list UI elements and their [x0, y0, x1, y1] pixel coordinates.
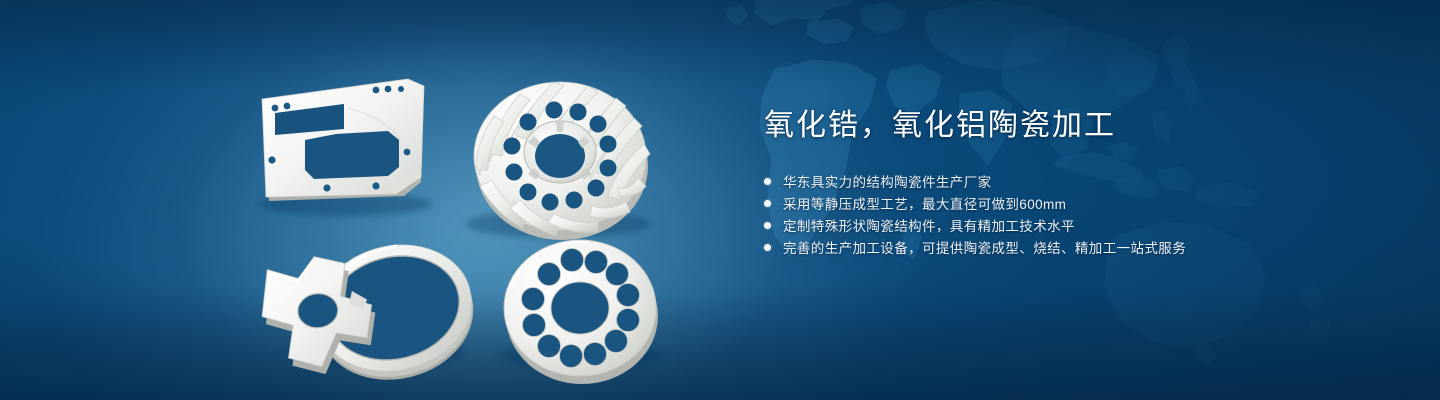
list-item: 完善的生产加工设备，可提供陶瓷成型、烧结、精加工一站式服务 — [764, 236, 1384, 258]
banner-copy: 氧化锆，氧化铝陶瓷加工 华东具实力的结构陶瓷件生产厂家 采用等静压成型工艺，最大… — [764, 108, 1384, 258]
feature-text: 完善的生产加工设备，可提供陶瓷成型、烧结、精加工一站式服务 — [783, 237, 1186, 257]
bullet-dot-icon — [764, 200, 771, 207]
ceramic-perforated-disc-graphic — [504, 240, 658, 384]
bullet-dot-icon — [764, 178, 771, 185]
ceramic-vaned-impeller-graphic — [474, 82, 650, 240]
feature-text: 采用等静压成型工艺，最大直径可做到600mm — [783, 193, 1066, 213]
bullet-dot-icon — [764, 244, 771, 251]
hero-banner: 氧化锆，氧化铝陶瓷加工 华东具实力的结构陶瓷件生产厂家 采用等静压成型工艺，最大… — [0, 0, 1440, 400]
feature-text: 定制特殊形状陶瓷结构件，具有精加工技术水平 — [783, 215, 1075, 235]
list-item: 华东具实力的结构陶瓷件生产厂家 — [764, 170, 1384, 192]
ceramic-mounting-plate-graphic — [262, 79, 424, 201]
list-item: 定制特殊形状陶瓷结构件，具有精加工技术水平 — [764, 214, 1384, 236]
page-title: 氧化锆，氧化铝陶瓷加工 — [764, 108, 1384, 144]
list-item: 采用等静压成型工艺，最大直径可做到600mm — [764, 192, 1384, 214]
feature-list: 华东具实力的结构陶瓷件生产厂家 采用等静压成型工艺，最大直径可做到600mm 定… — [764, 170, 1384, 258]
ceramic-products-illustration — [228, 36, 708, 384]
feature-text: 华东具实力的结构陶瓷件生产厂家 — [783, 171, 992, 191]
bullet-dot-icon — [764, 222, 771, 229]
